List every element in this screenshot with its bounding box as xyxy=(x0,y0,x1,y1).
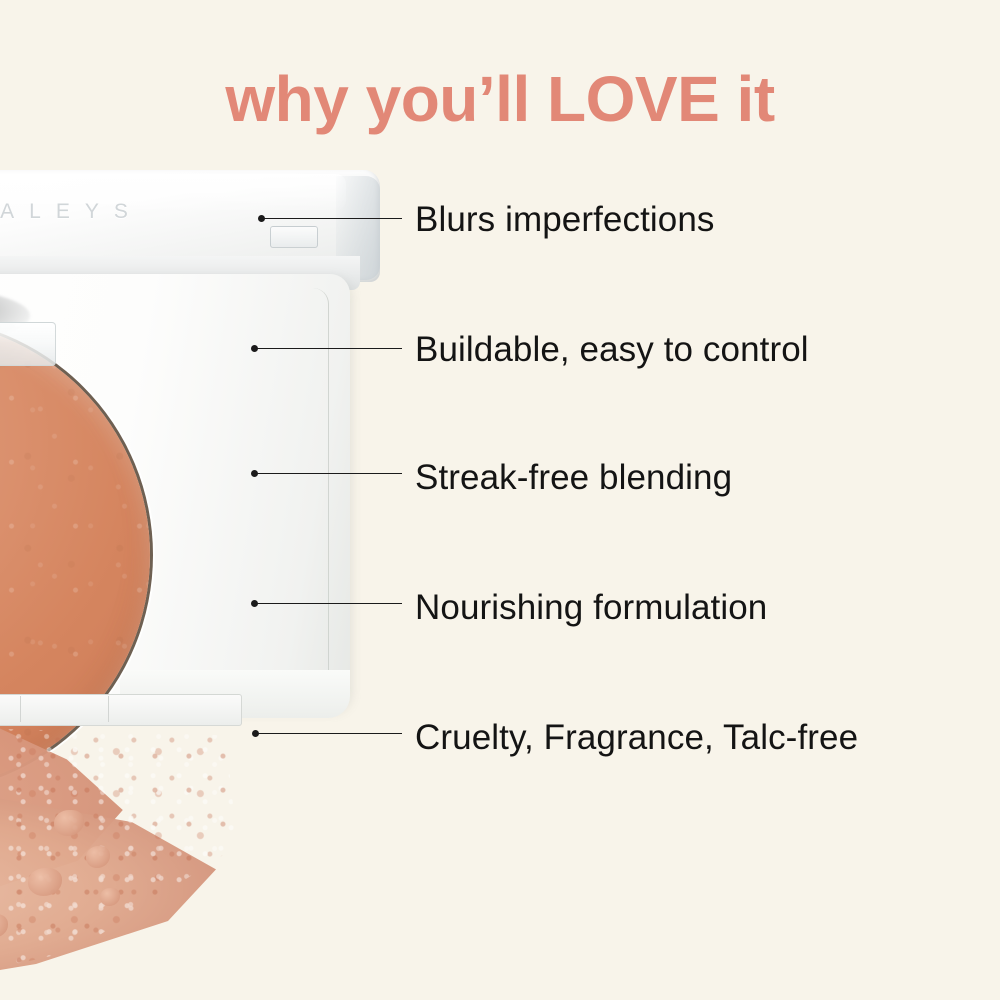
callout-label-4: Nourishing formulation xyxy=(415,588,767,628)
leader-line-5 xyxy=(256,733,402,734)
page-title: why you’ll LOVE it xyxy=(0,62,1000,136)
leader-line-2 xyxy=(255,348,402,349)
lid-notch xyxy=(270,226,318,248)
powder-swatch xyxy=(0,718,250,1000)
leader-line-4 xyxy=(255,603,402,604)
compact-clear-lid: HALEYS HALEYS xyxy=(0,170,380,282)
callout-label-3: Streak-free blending xyxy=(415,458,732,498)
product-photo: HALEYS HALEYS xyxy=(0,170,380,1000)
brand-wordmark: HALEYS xyxy=(0,200,230,224)
callout-label-5: Cruelty, Fragrance, Talc-free xyxy=(415,718,858,758)
leader-line-3 xyxy=(255,473,402,474)
product-benefits-graphic: why you’ll LOVE it HALEYS HALEYS xyxy=(0,0,1000,1000)
powder-swatch-shimmer xyxy=(0,718,250,1000)
leader-line-1 xyxy=(262,218,402,219)
compact-clasp xyxy=(0,322,56,366)
callout-label-2: Buildable, easy to control xyxy=(415,330,809,370)
callout-label-1: Blurs imperfections xyxy=(415,200,715,240)
